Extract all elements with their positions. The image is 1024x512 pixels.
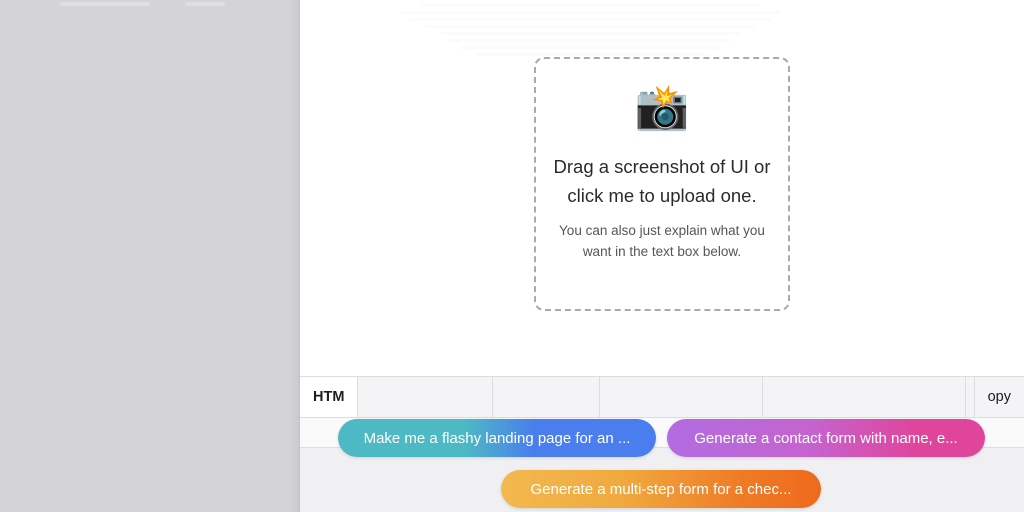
dropzone-subtitle-line-1: You can also just explain what you [559, 223, 765, 238]
suggestion-pill-multi-step-form[interactable]: Generate a multi-step form for a chec... [501, 470, 821, 508]
dropzone-title: Drag a screenshot of UI or click me to u… [549, 152, 775, 210]
dropzone-title-line-2: click me to upload one. [567, 185, 756, 206]
suggestion-pill-contact-form-label: Generate a contact form with name, e... [694, 430, 957, 447]
suggestion-pill-multi-step-form-label: Generate a multi-step form for a chec... [531, 481, 792, 498]
dropzone-subtitle-line-2: want in the text box below. [583, 244, 741, 259]
panel-ghost-line-a [60, 2, 150, 6]
panel-edge-shadow [289, 0, 299, 512]
toolbar-spacer [966, 377, 973, 417]
tab-secondary-4[interactable] [763, 377, 966, 417]
suggestion-pill-landing-page-label: Make me a flashy landing page for an ... [364, 430, 631, 447]
tab-html-label: HTM [313, 389, 344, 405]
app-root: 📸 Drag a screenshot of UI or click me to… [0, 0, 1024, 512]
dropzone-subtitle: You can also just explain what you want … [553, 220, 771, 262]
suggestion-pill-contact-form[interactable]: Generate a contact form with name, e... [667, 419, 985, 457]
tab-secondary-3[interactable] [600, 377, 763, 417]
tab-html[interactable]: HTM [300, 377, 358, 417]
tab-secondary-1[interactable] [358, 377, 493, 417]
camera-with-flash-icon: 📸 [635, 86, 690, 136]
dropzone-title-line-1: Drag a screenshot of UI or [554, 156, 771, 177]
copy-button[interactable]: opy [974, 377, 1024, 417]
suggestion-pill-landing-page[interactable]: Make me a flashy landing page for an ... [338, 419, 656, 457]
editor-canvas: 📸 Drag a screenshot of UI or click me to… [300, 0, 1024, 376]
panel-ghost-line-b [185, 2, 225, 6]
preview-panel [0, 0, 300, 512]
output-tab-bar: HTM opy [300, 376, 1024, 418]
tab-secondary-2[interactable] [493, 377, 600, 417]
copy-button-label: opy [988, 389, 1011, 405]
screenshot-dropzone[interactable]: 📸 Drag a screenshot of UI or click me to… [534, 57, 790, 311]
